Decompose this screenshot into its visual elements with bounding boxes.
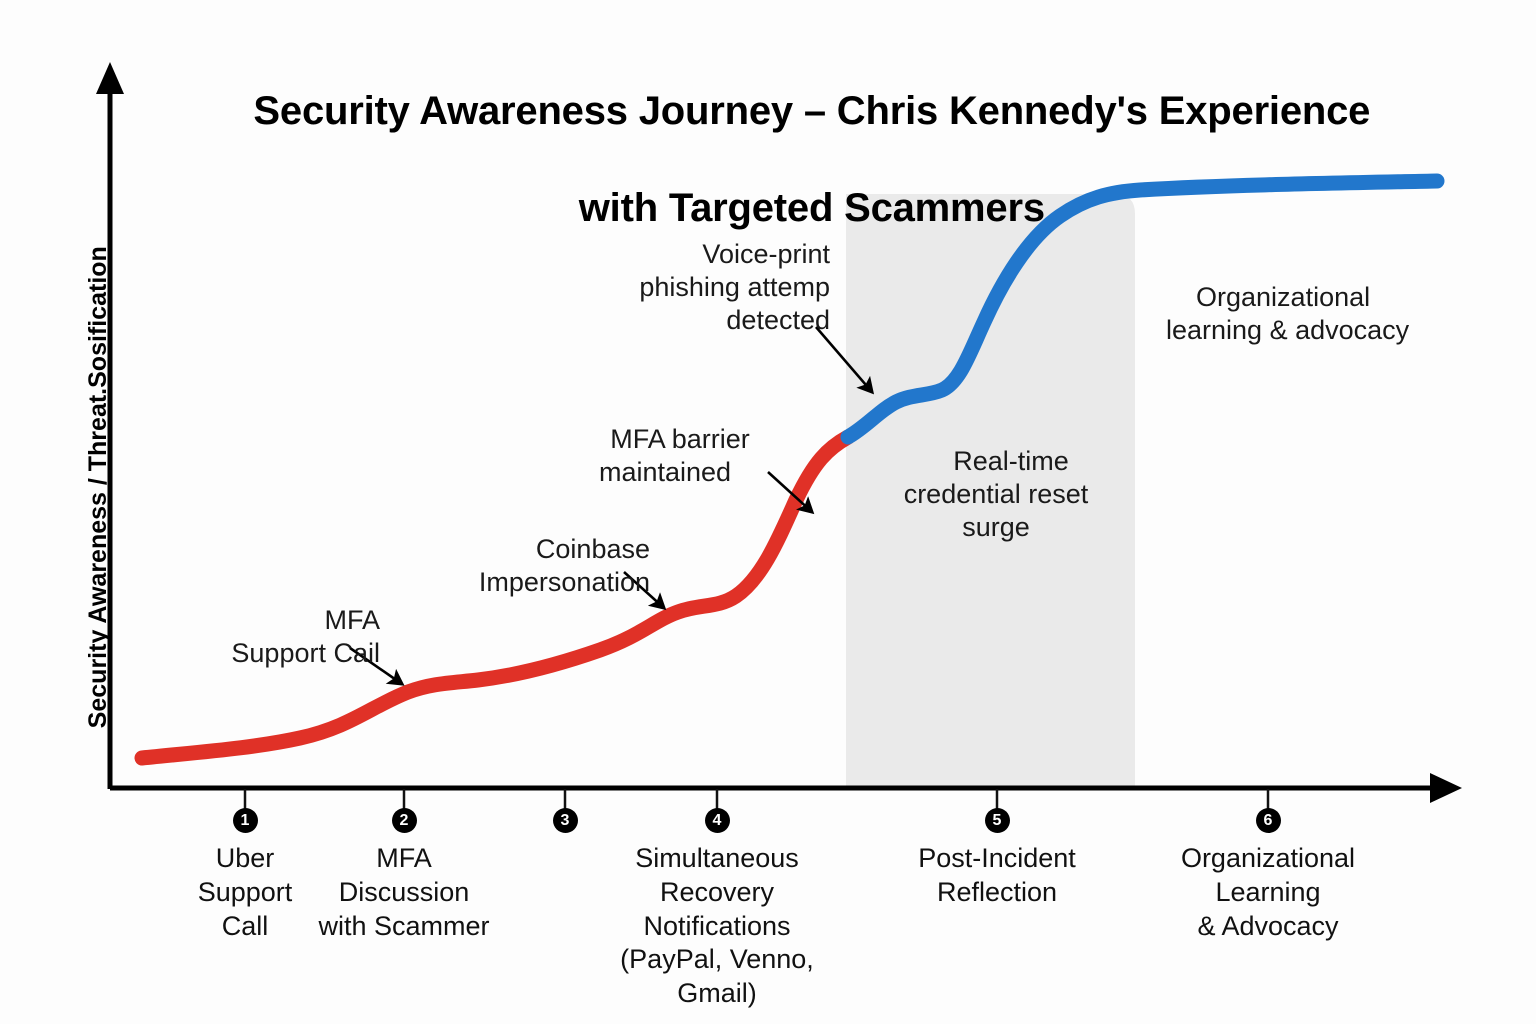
stage-label: Simultaneous Recovery Notifications (Pay… bbox=[597, 842, 837, 1011]
annotation-line: Real-time credential reset surge bbox=[904, 446, 1089, 542]
stage-label: Post-Incident Reflection bbox=[877, 842, 1117, 910]
stage-number-badge: 5 bbox=[985, 808, 1010, 833]
title-line-1: Security Awareness Journey – Chris Kenne… bbox=[253, 89, 1370, 133]
annotation-real-time-credential-reset-surge: Real-time credential reset surge bbox=[876, 412, 1116, 577]
annotation-line: MFA Support Cail bbox=[231, 605, 380, 668]
annotation-line: Organizational learning & advocacy bbox=[1166, 282, 1409, 345]
y-axis-arrowhead bbox=[96, 62, 124, 94]
stage-marker-4[interactable]: 4Simultaneous Recovery Notifications (Pa… bbox=[597, 808, 837, 1011]
stage-marker-6[interactable]: 6Organizational Learning & Advocacy bbox=[1148, 808, 1388, 943]
stage-number-badge: 6 bbox=[1256, 808, 1281, 833]
stage-label: MFA Discussion with Scammer bbox=[284, 842, 524, 943]
annotation-line: Coinbase Impersonation bbox=[479, 534, 650, 597]
stage-number-badge: 3 bbox=[553, 808, 578, 833]
annotation-mfa-barrier-maintained: MFA barrier maintained bbox=[550, 390, 780, 522]
stage-label: Organizational Learning & Advocacy bbox=[1148, 842, 1388, 943]
chart-canvas: Security Awareness Journey – Chris Kenne… bbox=[0, 0, 1536, 1024]
x-axis-arrowhead bbox=[1430, 773, 1462, 803]
annotation-mfa-support-call: MFA Support Cail bbox=[160, 571, 380, 703]
annotation-organizational-learning: Organizational learning & advocacy bbox=[1166, 248, 1466, 380]
y-axis-label: Security Awareness / Threat.Sosification bbox=[83, 177, 114, 797]
annotation-line: Voice-print phishing attemp detected bbox=[639, 239, 830, 335]
stage-number-badge: 2 bbox=[392, 808, 417, 833]
stage-number-badge: 4 bbox=[705, 808, 730, 833]
annotation-voice-print-phishing: Voice-print phishing attemp detected bbox=[560, 205, 830, 370]
stage-number-badge: 1 bbox=[233, 808, 258, 833]
stage-marker-5[interactable]: 5Post-Incident Reflection bbox=[877, 808, 1117, 910]
annotation-line: MFA barrier maintained bbox=[599, 424, 750, 487]
